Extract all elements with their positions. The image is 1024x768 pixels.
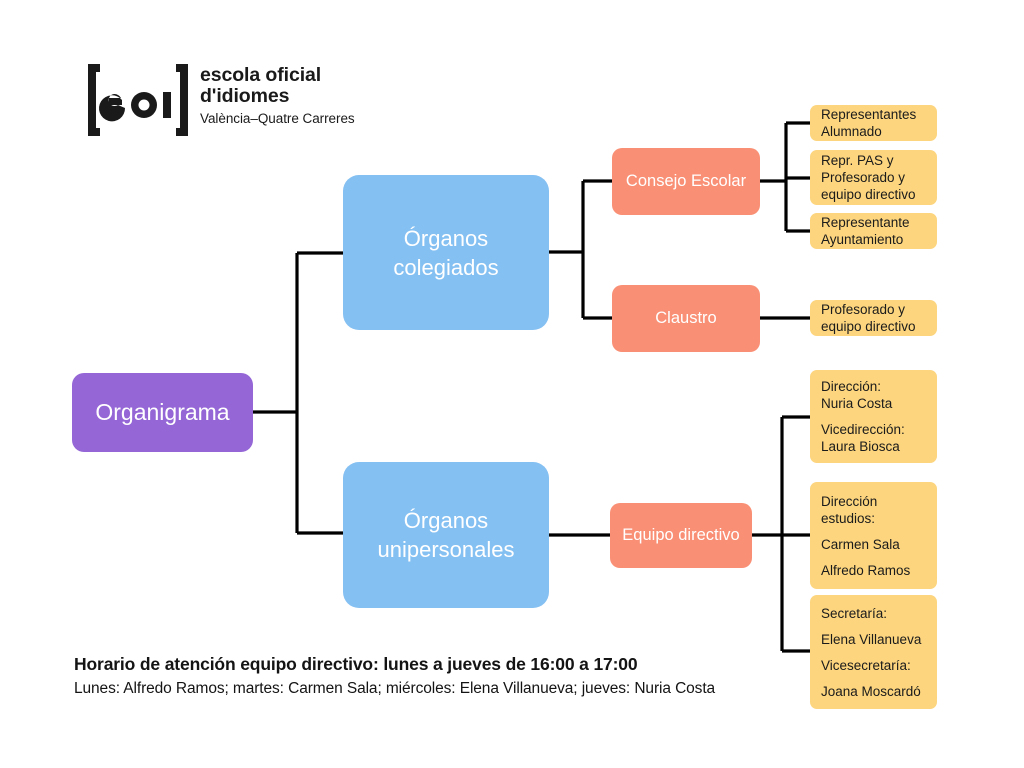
node-organos-unipersonales-line1: Órganos xyxy=(404,506,488,535)
leaf-line: Nuria Costa xyxy=(821,395,926,412)
node-organos-colegiados[interactable]: Órganos colegiados xyxy=(343,175,549,330)
leaf-line: Carmen Sala xyxy=(821,536,926,553)
leaf-line: Alumnado xyxy=(821,123,926,140)
node-equipo-directivo[interactable]: Equipo directivo xyxy=(610,503,752,568)
leaf-representantes-alumnado[interactable]: Representantes Alumnado xyxy=(810,105,937,141)
leaf-line: Dirección xyxy=(821,493,926,510)
leaf-line: Dirección: xyxy=(821,378,926,395)
eoi-logo-mark-icon xyxy=(86,62,190,138)
leaf-spacer xyxy=(821,622,926,631)
leaf-spacer xyxy=(821,412,926,421)
leaf-profesorado-equipo-directivo[interactable]: Profesorado y equipo directivo xyxy=(810,300,937,336)
footer-title: Horario de atención equipo directivo: lu… xyxy=(74,652,874,677)
node-consejo-escolar[interactable]: Consejo Escolar xyxy=(612,148,760,215)
leaf-representante-ayuntamiento[interactable]: Representante Ayuntamiento xyxy=(810,213,937,249)
leaf-line: Secretaría: xyxy=(821,605,926,622)
leaf-line: Representante xyxy=(821,214,926,231)
leaf-line: Laura Biosca xyxy=(821,438,926,455)
footer-schedule: Horario de atención equipo directivo: lu… xyxy=(74,652,874,701)
node-claustro-label: Claustro xyxy=(655,309,716,328)
node-organos-colegiados-line2: colegiados xyxy=(393,253,498,282)
node-organos-unipersonales-line2: unipersonales xyxy=(378,535,515,564)
leaf-line: equipo directivo xyxy=(821,318,926,335)
leaf-line: estudios: xyxy=(821,510,926,527)
leaf-spacer xyxy=(821,527,926,536)
node-organigrama-label: Organigrama xyxy=(95,399,229,426)
node-claustro[interactable]: Claustro xyxy=(612,285,760,352)
leaf-line: Repr. PAS y xyxy=(821,152,926,169)
logo-line-3: València–Quatre Carreres xyxy=(200,109,410,128)
leaf-direccion-estudios[interactable]: Dirección estudios: Carmen Sala Alfredo … xyxy=(810,482,937,589)
footer-subtitle: Lunes: Alfredo Ramos; martes: Carmen Sal… xyxy=(74,677,874,701)
leaf-line: Profesorado y xyxy=(821,169,926,186)
leaf-line: equipo directivo xyxy=(821,186,926,203)
leaf-line: Representantes xyxy=(821,106,926,123)
node-equipo-directivo-label: Equipo directivo xyxy=(622,526,739,545)
node-organos-unipersonales[interactable]: Órganos unipersonales xyxy=(343,462,549,608)
eoi-logo-text: escola oficial d'idiomes València–Quatre… xyxy=(200,65,410,128)
leaf-line: Ayuntamiento xyxy=(821,231,926,248)
leaf-line: Alfredo Ramos xyxy=(821,562,926,579)
leaf-line: Profesorado y xyxy=(821,301,926,318)
node-organigrama[interactable]: Organigrama xyxy=(72,373,253,452)
node-consejo-escolar-label: Consejo Escolar xyxy=(626,172,746,191)
logo-line-2: d'idiomes xyxy=(200,86,410,107)
organigrama-canvas: escola oficial d'idiomes València–Quatre… xyxy=(0,0,1024,768)
leaf-repr-pas[interactable]: Repr. PAS y Profesorado y equipo directi… xyxy=(810,150,937,205)
logo-line-1: escola oficial xyxy=(200,65,410,86)
leaf-direccion[interactable]: Dirección: Nuria Costa Vicedirección: La… xyxy=(810,370,937,463)
node-organos-colegiados-line1: Órganos xyxy=(404,224,488,253)
leaf-line: Vicedirección: xyxy=(821,421,926,438)
leaf-spacer xyxy=(821,553,926,562)
leaf-line: Elena Villanueva xyxy=(821,631,926,648)
eoi-logo: escola oficial d'idiomes València–Quatre… xyxy=(86,62,406,138)
